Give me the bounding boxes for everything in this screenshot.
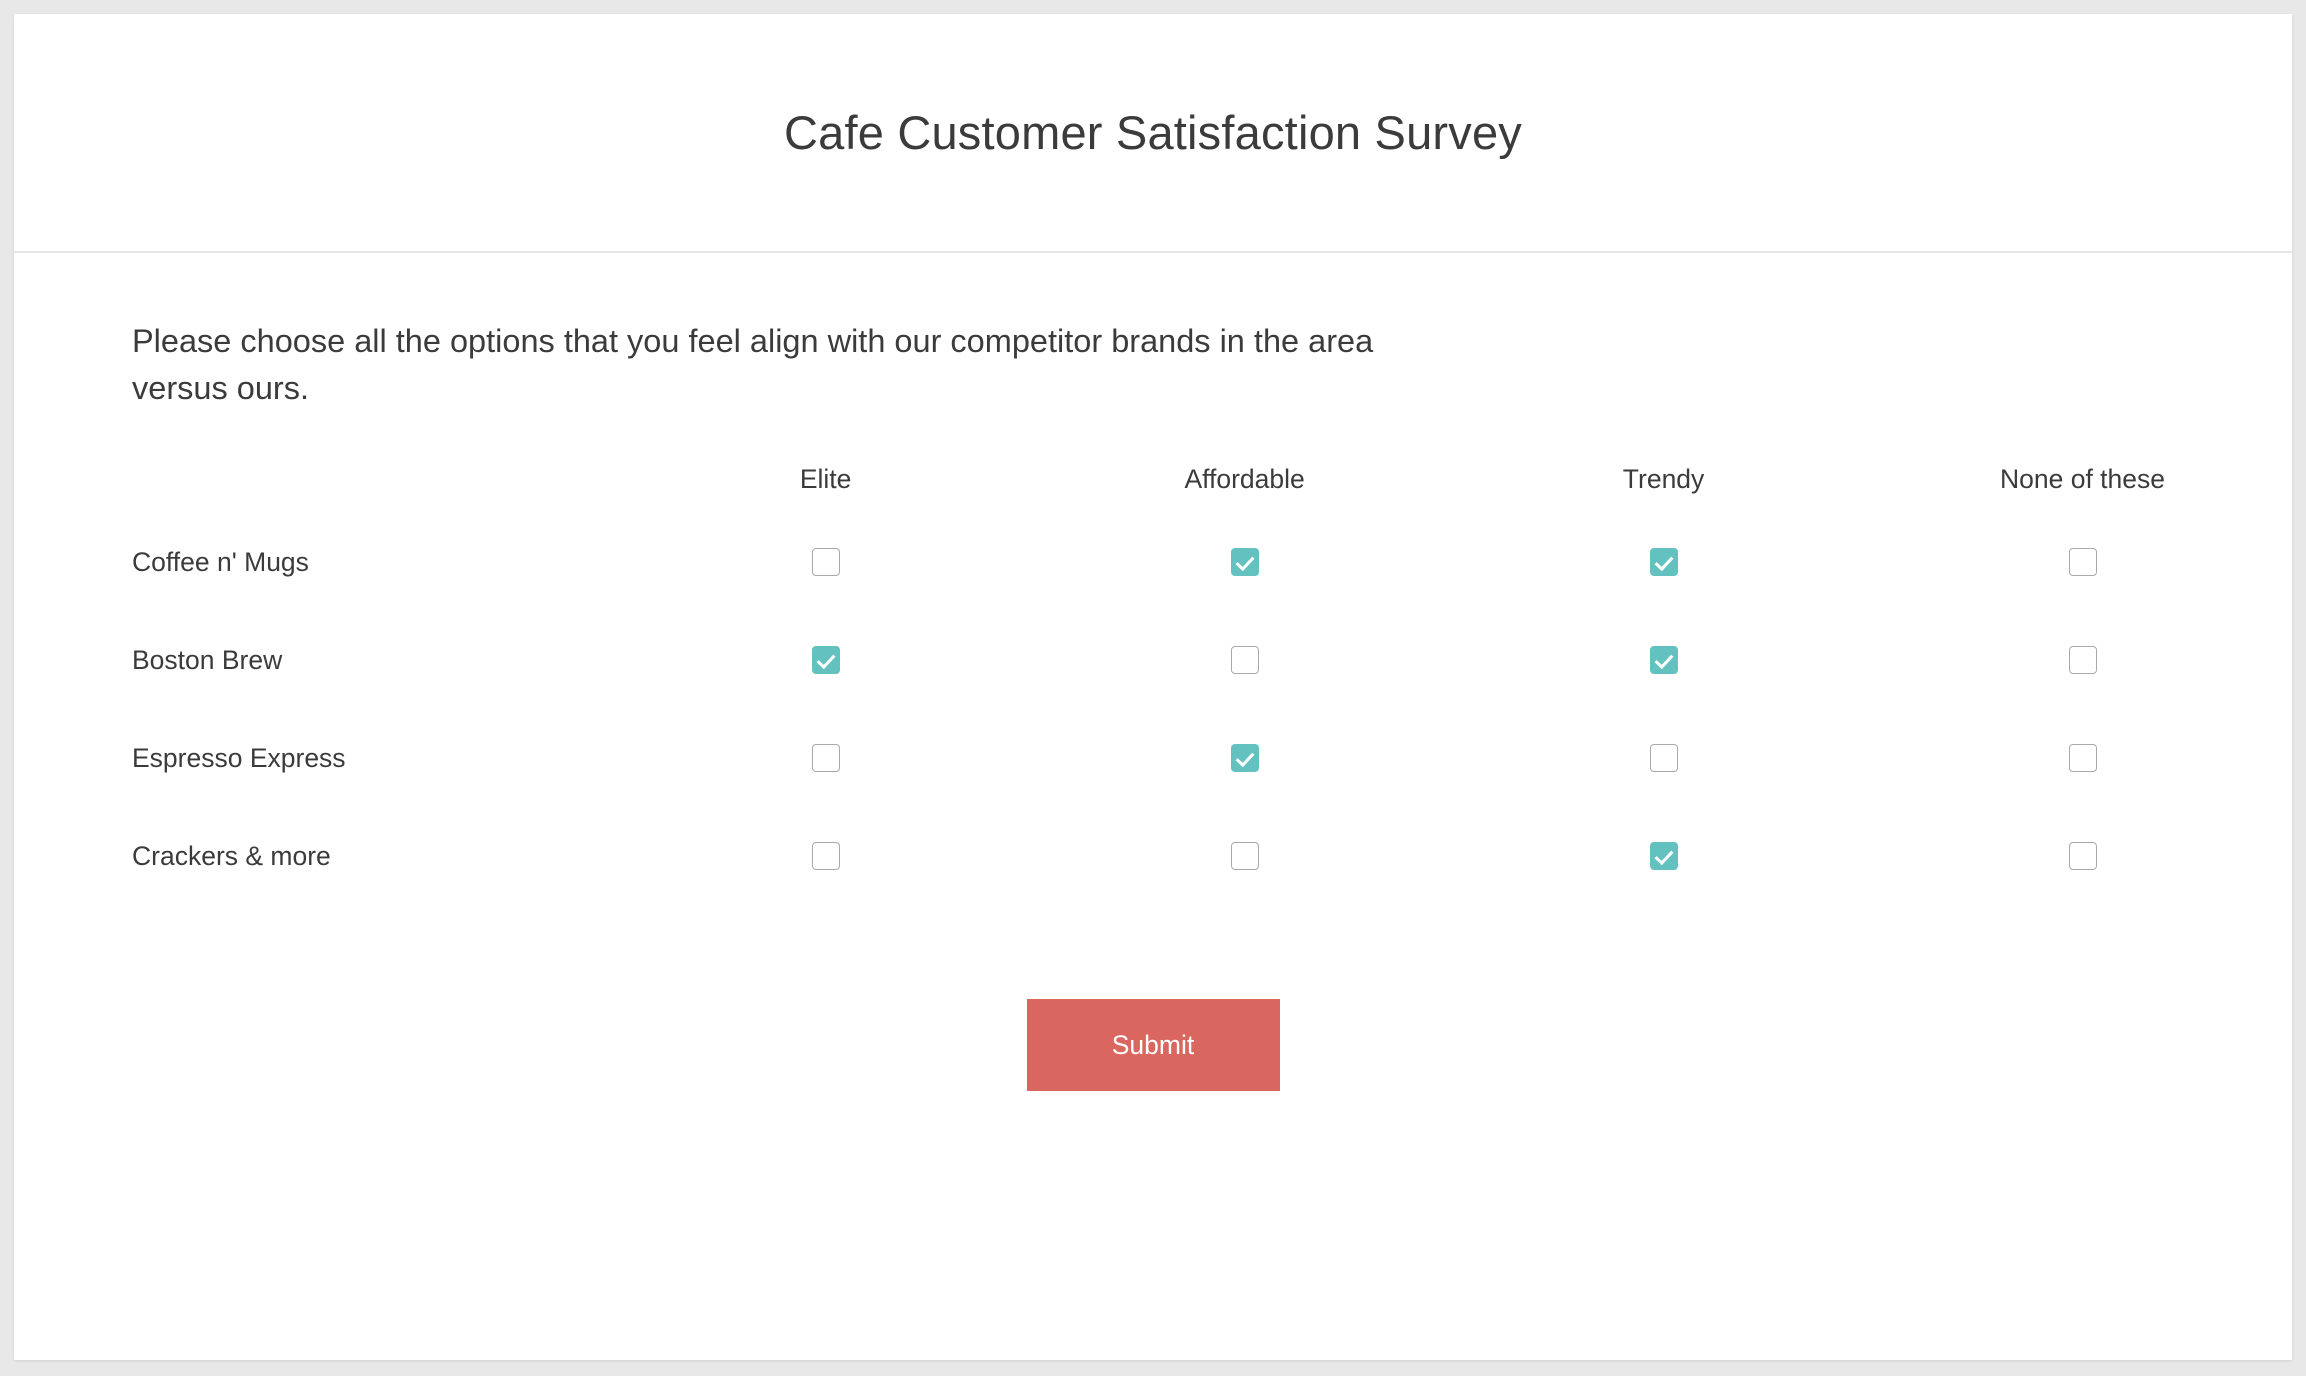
question-prompt: Please choose all the options that you f… [14,253,1382,412]
table-row: Crackers & more [14,807,2292,905]
cell-boston-brew-elite[interactable] [616,611,1035,709]
cell-coffee-n-mugs-elite[interactable] [616,513,1035,611]
checkbox-crackers-and-more-affordable[interactable] [1231,842,1259,870]
checkbox-coffee-n-mugs-none-of-these[interactable] [2069,548,2097,576]
survey-card: Cafe Customer Satisfaction Survey Please… [14,14,2292,1360]
column-header-trendy: Trendy [1454,464,1873,513]
survey-body: Please choose all the options that you f… [14,253,2292,1091]
checkbox-boston-brew-none-of-these[interactable] [2069,646,2097,674]
cell-coffee-n-mugs-none-of-these[interactable] [1873,513,2292,611]
matrix-body: Coffee n' Mugs Boston Brew [14,513,2292,905]
submit-row: Submit [14,999,2292,1091]
checkbox-boston-brew-affordable[interactable] [1231,646,1259,674]
cell-boston-brew-affordable[interactable] [1035,611,1454,709]
cell-crackers-and-more-trendy[interactable] [1454,807,1873,905]
row-label-espresso-express: Espresso Express [14,709,616,807]
matrix-header-row: Elite Affordable Trendy None of these [14,464,2292,513]
row-label-crackers-and-more: Crackers & more [14,807,616,905]
checkbox-crackers-and-more-trendy[interactable] [1650,842,1678,870]
checkbox-boston-brew-elite[interactable] [812,646,840,674]
row-label-coffee-n-mugs: Coffee n' Mugs [14,513,616,611]
cell-espresso-express-elite[interactable] [616,709,1035,807]
matrix-corner-cell [14,464,616,513]
table-row: Coffee n' Mugs [14,513,2292,611]
checkbox-matrix: Elite Affordable Trendy None of these Co… [14,464,2292,905]
column-header-affordable: Affordable [1035,464,1454,513]
column-header-elite: Elite [616,464,1035,513]
row-label-boston-brew: Boston Brew [14,611,616,709]
checkbox-espresso-express-affordable[interactable] [1231,744,1259,772]
cell-boston-brew-trendy[interactable] [1454,611,1873,709]
checkbox-espresso-express-none-of-these[interactable] [2069,744,2097,772]
checkbox-boston-brew-trendy[interactable] [1650,646,1678,674]
checkbox-crackers-and-more-none-of-these[interactable] [2069,842,2097,870]
cell-espresso-express-affordable[interactable] [1035,709,1454,807]
cell-espresso-express-none-of-these[interactable] [1873,709,2292,807]
cell-coffee-n-mugs-trendy[interactable] [1454,513,1873,611]
column-header-none-of-these: None of these [1873,464,2292,513]
checkbox-coffee-n-mugs-affordable[interactable] [1231,548,1259,576]
submit-button[interactable]: Submit [1027,999,1280,1091]
cell-crackers-and-more-none-of-these[interactable] [1873,807,2292,905]
table-row: Boston Brew [14,611,2292,709]
survey-header: Cafe Customer Satisfaction Survey [14,14,2292,253]
checkbox-coffee-n-mugs-trendy[interactable] [1650,548,1678,576]
checkbox-espresso-express-trendy[interactable] [1650,744,1678,772]
cell-boston-brew-none-of-these[interactable] [1873,611,2292,709]
cell-crackers-and-more-elite[interactable] [616,807,1035,905]
checkbox-coffee-n-mugs-elite[interactable] [812,548,840,576]
page-title: Cafe Customer Satisfaction Survey [784,105,1522,160]
checkbox-crackers-and-more-elite[interactable] [812,842,840,870]
cell-espresso-express-trendy[interactable] [1454,709,1873,807]
cell-crackers-and-more-affordable[interactable] [1035,807,1454,905]
table-row: Espresso Express [14,709,2292,807]
checkbox-espresso-express-elite[interactable] [812,744,840,772]
cell-coffee-n-mugs-affordable[interactable] [1035,513,1454,611]
